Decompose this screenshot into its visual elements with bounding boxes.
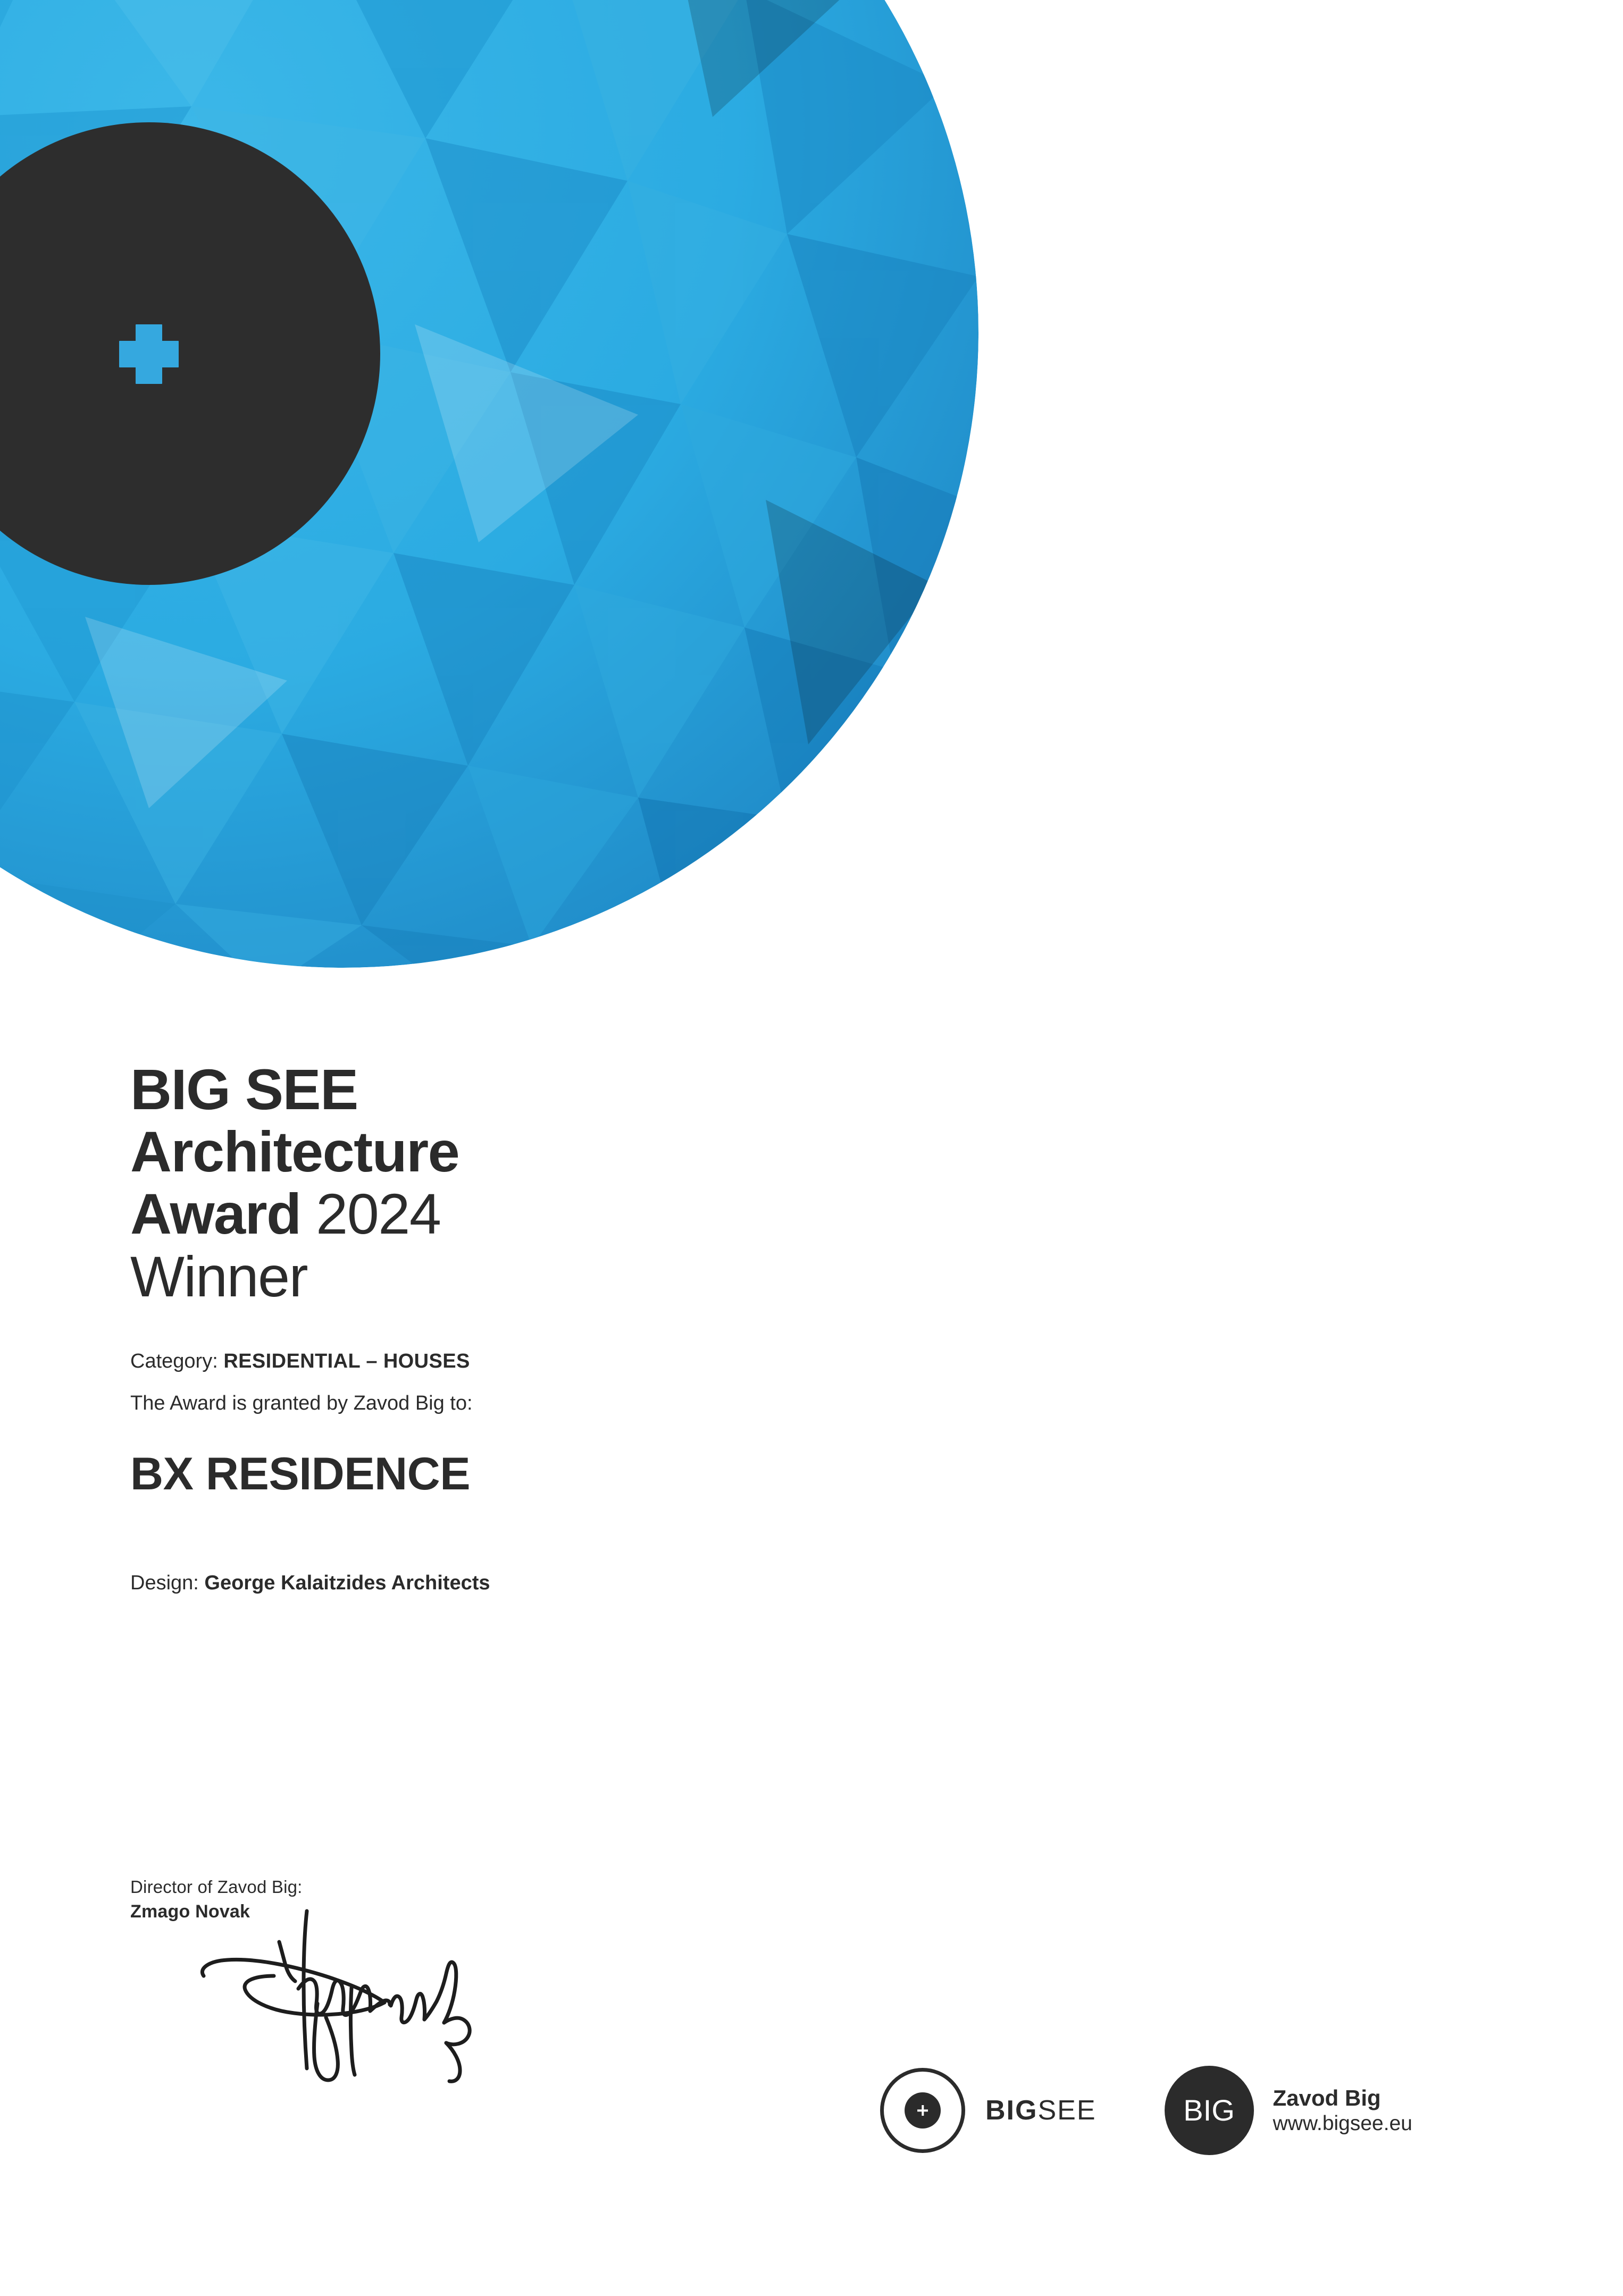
- award-title-year: 2024: [316, 1181, 440, 1246]
- plus-icon: [119, 324, 179, 384]
- certificate-page: BIG SEE Architecture Award 2024 Winner C…: [0, 0, 1623, 2296]
- design-row: Design: George Kalaitzides Architects: [130, 1572, 1407, 1595]
- award-title: BIG SEE Architecture Award 2024 Winner: [130, 1058, 1407, 1308]
- design-label: Design:: [130, 1572, 199, 1594]
- category-value: RESIDENTIAL – HOUSES: [223, 1350, 470, 1372]
- hero-inner-disc: [0, 122, 380, 585]
- handwritten-signature: [194, 1909, 492, 2084]
- award-title-line-3: Award 2024: [130, 1183, 1407, 1245]
- director-role-label: Director of Zavod Big:: [130, 1877, 662, 1897]
- big-disc-logo: BIG: [1165, 2066, 1254, 2155]
- category-label: Category:: [130, 1350, 218, 1372]
- plus-icon: [917, 2105, 928, 2116]
- signature-block: Director of Zavod Big: Zmago Novak: [130, 1877, 662, 1922]
- bigsee-center-dot: [905, 2092, 941, 2129]
- bigsee-polygon-circle-graphic: [0, 0, 1069, 989]
- award-text-block: BIG SEE Architecture Award 2024 Winner C…: [130, 1058, 1407, 1595]
- award-title-line-1: BIG SEE: [130, 1058, 1407, 1120]
- footer-logos: BIGSEE BIG Zavod Big www.bigsee.eu: [880, 2066, 1412, 2155]
- bigsee-circle-logo: [880, 2068, 965, 2153]
- big-disc-text: BIG: [1183, 2096, 1234, 2125]
- bigsee-wordmark-see: SEE: [1038, 2095, 1096, 2126]
- zavod-big-name: Zavod Big: [1273, 2085, 1412, 2111]
- granted-by-text: The Award is granted by Zavod Big to:: [130, 1392, 1407, 1415]
- zavod-big-text: Zavod Big www.bigsee.eu: [1273, 2085, 1412, 2136]
- award-title-line-4: Winner: [130, 1245, 1407, 1308]
- zavod-big-url[interactable]: www.bigsee.eu: [1273, 2111, 1412, 2136]
- bigsee-logo: BIGSEE: [880, 2068, 1097, 2153]
- bigsee-wordmark-big: BIG: [985, 2095, 1038, 2126]
- design-value: George Kalaitzides Architects: [204, 1572, 490, 1594]
- bigsee-wordmark: BIGSEE: [985, 2094, 1097, 2126]
- zavod-big-logo: BIG Zavod Big www.bigsee.eu: [1165, 2066, 1412, 2155]
- award-title-award-word: Award: [130, 1181, 301, 1246]
- award-title-line-2: Architecture: [130, 1120, 1407, 1183]
- recipient-name: BX RESIDENCE: [130, 1448, 1407, 1501]
- category-row: Category: RESIDENTIAL – HOUSES: [130, 1350, 1407, 1373]
